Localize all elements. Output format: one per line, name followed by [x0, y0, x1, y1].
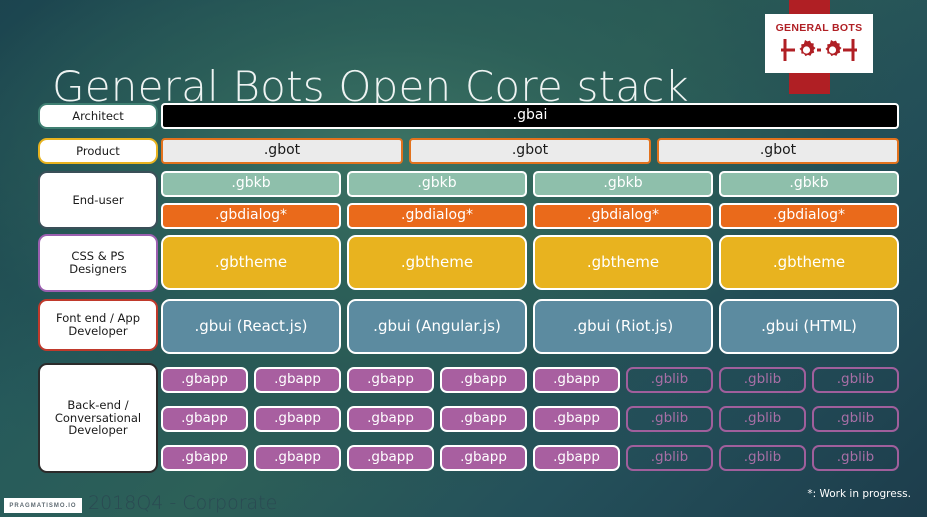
- stack-box-label: .gbapp: [553, 450, 600, 465]
- stack-box-gbui-html[interactable]: .gbui (HTML): [719, 299, 899, 354]
- footer-caption: 2018Q4 - Corporate: [88, 492, 277, 514]
- stack-box-label: .gbui (Riot.js): [573, 318, 673, 335]
- stack-box-gbui-react[interactable]: .gbui (React.js): [161, 299, 341, 354]
- stack-box-gbtheme[interactable]: .gbtheme: [719, 235, 899, 290]
- stack-box-gbapp[interactable]: .gbapp: [533, 367, 620, 393]
- stack-box-gblib[interactable]: .gblib: [626, 367, 713, 393]
- stack-box-label: .gbkb: [417, 176, 456, 192]
- stack-box-gbapp[interactable]: .gbapp: [347, 445, 434, 471]
- stack-box-gbdialog[interactable]: .gbdialog*: [533, 203, 713, 229]
- stack-row-gbot: .gbot .gbot .gbot: [161, 138, 899, 164]
- stack-box-gbui-riot[interactable]: .gbui (Riot.js): [533, 299, 713, 354]
- role-label-text: Product: [76, 145, 120, 158]
- stack-box-gbdialog[interactable]: .gbdialog*: [347, 203, 527, 229]
- stack-box-gbot[interactable]: .gbot: [409, 138, 651, 164]
- stack-box-label: .gblib: [651, 372, 689, 387]
- stack-box-gbkb[interactable]: .gbkb: [719, 171, 899, 197]
- stack-box-label: .gbdialog*: [401, 208, 473, 224]
- role-label-text: Font end / App Developer: [43, 312, 153, 338]
- stack-box-gbkb[interactable]: .gbkb: [533, 171, 713, 197]
- stack-box-label: .gblib: [651, 411, 689, 426]
- stack-box-gblib[interactable]: .gblib: [812, 406, 899, 432]
- role-label-end-user: End-user: [38, 171, 158, 229]
- pragmatismo-logo: PRAGMATISMO.IO: [4, 498, 82, 513]
- stack-box-gbapp[interactable]: .gbapp: [254, 406, 341, 432]
- stack-box-label: .gbapp: [460, 372, 507, 387]
- stack-box-gbapp[interactable]: .gbapp: [161, 406, 248, 432]
- stack-box-label: .gbapp: [367, 411, 414, 426]
- stack-box-gbkb[interactable]: .gbkb: [347, 171, 527, 197]
- stack-row-gbtheme: .gbtheme .gbtheme .gbtheme .gbtheme: [161, 235, 899, 290]
- stack-box-gbdialog[interactable]: .gbdialog*: [719, 203, 899, 229]
- stack-box-label: .gbapp: [367, 372, 414, 387]
- stack-box-gbapp[interactable]: .gbapp: [533, 445, 620, 471]
- stack-box-gblib[interactable]: .gblib: [719, 367, 806, 393]
- stack-box-gbtheme[interactable]: .gbtheme: [161, 235, 341, 290]
- stack-box-label: .gbapp: [274, 411, 321, 426]
- stack-box-label: .gbkb: [789, 176, 828, 192]
- stack-box-label: .gbapp: [553, 411, 600, 426]
- stack-row-gbapp-1: .gbapp .gbapp .gbapp .gbapp .gbapp .gbli…: [161, 367, 899, 393]
- role-label-architect: Architect: [38, 103, 158, 129]
- pragmatismo-wordmark: PRAGMATISMO.IO: [9, 503, 76, 509]
- role-label-text: Architect: [72, 110, 124, 123]
- stack-box-gbapp[interactable]: .gbapp: [161, 445, 248, 471]
- stack-box-label: .gbtheme: [773, 254, 845, 271]
- stack-box-label: .gbui (React.js): [194, 318, 307, 335]
- stack-box-gbtheme[interactable]: .gbtheme: [347, 235, 527, 290]
- stack-box-gblib[interactable]: .gblib: [719, 406, 806, 432]
- stack-box-label: .gbot: [264, 143, 300, 159]
- stack-box-label: .gbapp: [460, 450, 507, 465]
- stack-box-label: .gblib: [744, 372, 782, 387]
- stack-box-gbapp[interactable]: .gbapp: [161, 367, 248, 393]
- stack-box-gbapp[interactable]: .gbapp: [533, 406, 620, 432]
- role-label-text: Back-end / Conversational Developer: [43, 399, 153, 438]
- stack-box-label: .gbapp: [181, 372, 228, 387]
- stack-row-gbapp-3: .gbapp .gbapp .gbapp .gbapp .gbapp .gbli…: [161, 445, 899, 471]
- stack-box-label: .gbui (Angular.js): [373, 318, 501, 335]
- stack-row-gbkb: .gbkb .gbkb .gbkb .gbkb: [161, 171, 899, 197]
- stack-box-label: .gbot: [512, 143, 548, 159]
- stack-box-gbot[interactable]: .gbot: [161, 138, 403, 164]
- stack-box-label: .gblib: [744, 450, 782, 465]
- stack-box-gbot[interactable]: .gbot: [657, 138, 899, 164]
- role-label-back-end-conversational-developer: Back-end / Conversational Developer: [38, 363, 158, 473]
- general-bots-logo: GENERAL BOTS: [765, 14, 873, 73]
- stack-box-gbtheme[interactable]: .gbtheme: [533, 235, 713, 290]
- stack-box-gbui-angular[interactable]: .gbui (Angular.js): [347, 299, 527, 354]
- stack-box-gblib[interactable]: .gblib: [719, 445, 806, 471]
- stack-box-gblib[interactable]: .gblib: [812, 367, 899, 393]
- stack-box-gbapp[interactable]: .gbapp: [440, 445, 527, 471]
- role-label-text: CSS & PS Designers: [43, 250, 153, 276]
- stack-box-label: .gbai: [513, 108, 548, 124]
- stack-box-gblib[interactable]: .gblib: [812, 445, 899, 471]
- stack-box-label: .gbapp: [367, 450, 414, 465]
- stack-box-label: .gbapp: [274, 450, 321, 465]
- stack-box-gbdialog[interactable]: .gbdialog*: [161, 203, 341, 229]
- stack-box-label: .gbkb: [603, 176, 642, 192]
- stack-box-label: .gbapp: [460, 411, 507, 426]
- stack-box-gblib[interactable]: .gblib: [626, 445, 713, 471]
- stack-box-gbapp[interactable]: .gbapp: [440, 406, 527, 432]
- stack-box-gbai[interactable]: .gbai: [161, 103, 899, 129]
- logo-wordmark: GENERAL BOTS: [776, 23, 863, 34]
- stack-box-label: .gbot: [760, 143, 796, 159]
- stack-box-gbapp[interactable]: .gbapp: [347, 367, 434, 393]
- stack-box-label: .gbapp: [181, 411, 228, 426]
- stack-box-label: .gbtheme: [215, 254, 287, 271]
- stack-row-gbapp-2: .gbapp .gbapp .gbapp .gbapp .gbapp .gbli…: [161, 406, 899, 432]
- role-label-css-ps-designers: CSS & PS Designers: [38, 234, 158, 292]
- stack-box-label: .gbapp: [274, 372, 321, 387]
- stack-box-label: .gbdialog*: [587, 208, 659, 224]
- stack-box-gblib[interactable]: .gblib: [626, 406, 713, 432]
- stack-box-label: .gbapp: [181, 450, 228, 465]
- stack-box-label: .gbapp: [553, 372, 600, 387]
- stack-row-gbui: .gbui (React.js) .gbui (Angular.js) .gbu…: [161, 299, 899, 354]
- stack-box-label: .gbui (HTML): [761, 318, 857, 335]
- role-label-product: Product: [38, 138, 158, 164]
- role-label-front-end-app-developer: Font end / App Developer: [38, 299, 158, 351]
- stack-row-gbdialog: .gbdialog* .gbdialog* .gbdialog* .gbdial…: [161, 203, 899, 229]
- gears-logo-icon: [779, 36, 859, 64]
- stack-box-gbapp[interactable]: .gbapp: [254, 367, 341, 393]
- stack-box-label: .gblib: [837, 450, 875, 465]
- work-in-progress-note: *: Work in progress.: [807, 488, 911, 500]
- stack-box-label: .gbdialog*: [215, 208, 287, 224]
- stack-box-gbapp[interactable]: .gbapp: [347, 406, 434, 432]
- stack-box-label: .gbdialog*: [773, 208, 845, 224]
- stack-box-label: .gblib: [837, 372, 875, 387]
- stack-box-label: .gbkb: [231, 176, 270, 192]
- stack-box-label: .gblib: [744, 411, 782, 426]
- stack-box-label: .gbtheme: [587, 254, 659, 271]
- stack-box-label: .gblib: [837, 411, 875, 426]
- stack-box-label: .gblib: [651, 450, 689, 465]
- slide-canvas: GENERAL BOTS General Bots Open Core stac…: [0, 0, 927, 517]
- stack-box-gbapp[interactable]: .gbapp: [440, 367, 527, 393]
- stack-box-gbapp[interactable]: .gbapp: [254, 445, 341, 471]
- stack-box-label: .gbtheme: [401, 254, 473, 271]
- role-label-text: End-user: [72, 194, 123, 207]
- stack-box-gbkb[interactable]: .gbkb: [161, 171, 341, 197]
